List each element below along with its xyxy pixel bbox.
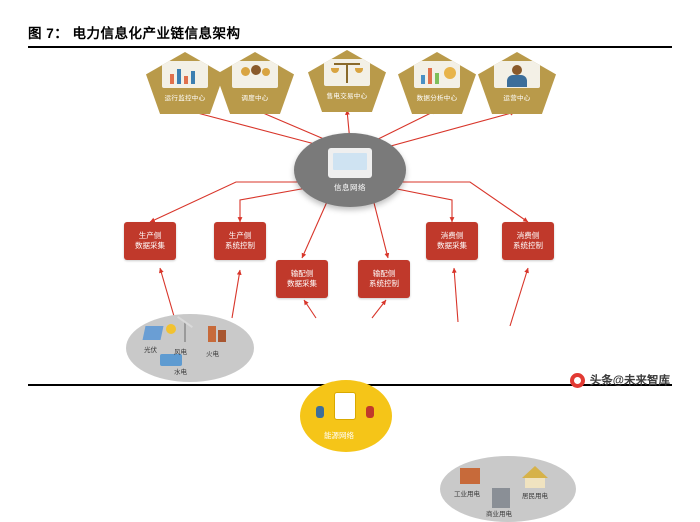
page-title: 图 7： 电力信息化产业链信息架构 (28, 22, 672, 42)
top-card-4[interactable]: 运营中心 (478, 52, 556, 114)
figure-canvas: 图 7： 电力信息化产业链信息架构 (0, 0, 700, 404)
toutiao-dot-icon (570, 373, 585, 388)
mid-box-1[interactable]: 生产侧 系统控制 (214, 222, 266, 260)
thermal-plant-icon (208, 326, 216, 342)
title-divider (28, 46, 672, 48)
mid-box-0[interactable]: 生产侧 数据采集 (124, 222, 176, 260)
mid-box-line2: 数据采集 (135, 241, 165, 251)
mid-box-5[interactable]: 消费侧 系统控制 (502, 222, 554, 260)
house-body-icon (525, 478, 545, 488)
top-card-1[interactable]: 调度中心 (216, 52, 294, 114)
top-card-2[interactable]: 售电交易中心 (308, 50, 386, 112)
bottom-group-grid[interactable]: 能源网络 (300, 380, 392, 452)
watermark: 头条@未来智库 (570, 372, 670, 388)
mid-box-line2: 系统控制 (225, 241, 255, 251)
mid-box-line2: 系统控制 (369, 279, 399, 289)
sun-icon (166, 324, 176, 334)
mid-box-3[interactable]: 输配侧 系统控制 (358, 260, 410, 298)
smart-grid-icon (334, 392, 356, 420)
bottom-item-label: 工业用电 (454, 488, 480, 498)
office-building-icon (492, 488, 510, 508)
bottom-group-consumption[interactable]: 工业用电 居民用电 商业用电 (440, 456, 576, 522)
top-card-label: 调度中心 (241, 92, 268, 102)
mid-box-line1: 生产侧 (229, 231, 252, 241)
bottom-item-label: 居民用电 (522, 490, 548, 500)
top-card-3[interactable]: 数据分析中心 (398, 52, 476, 114)
mid-box-line1: 生产侧 (139, 231, 162, 241)
monitor-chart-icon (162, 61, 208, 88)
people-icon (232, 61, 278, 88)
mid-box-line1: 输配侧 (373, 269, 396, 279)
figure-title-bar: 图 7： 电力信息化产业链信息架构 (28, 22, 672, 48)
bottom-item-label: 风电 (174, 346, 187, 356)
bottom-group-generation[interactable]: 光伏 风电 火电 水电 (126, 314, 254, 382)
bottom-item-label: 水电 (174, 366, 187, 376)
factory-icon (460, 468, 480, 484)
watermark-text: 头条@未来智库 (590, 372, 670, 388)
thermal-stack-icon (218, 330, 226, 342)
bar-chart-icon (414, 61, 460, 88)
hub-label: 信息网络 (334, 182, 366, 193)
bottom-item-label: 商业用电 (486, 508, 512, 518)
grid-person-right-icon (366, 406, 374, 418)
top-card-0[interactable]: 运行监控中心 (146, 52, 224, 114)
mid-box-line2: 数据采集 (437, 241, 467, 251)
balance-scale-icon (324, 59, 370, 86)
bottom-item-label: 能源网络 (324, 430, 354, 441)
solar-panel-icon (143, 326, 164, 340)
bottom-item-label: 火电 (206, 348, 219, 358)
top-card-label: 运行监控中心 (165, 92, 206, 102)
mid-box-2[interactable]: 输配侧 数据采集 (276, 260, 328, 298)
mid-box-line1: 输配侧 (291, 269, 314, 279)
person-icon (494, 61, 540, 88)
top-card-label: 数据分析中心 (417, 92, 458, 102)
top-card-label: 运营中心 (503, 92, 530, 102)
mid-box-line2: 数据采集 (287, 279, 317, 289)
mid-box-line1: 消费侧 (441, 231, 464, 241)
bottom-item-label: 光伏 (144, 344, 157, 354)
wind-turbine-icon (184, 322, 186, 342)
laptop-icon (328, 148, 372, 178)
mid-box-line2: 系统控制 (513, 241, 543, 251)
hub-information-network[interactable]: 信息网络 (294, 133, 406, 207)
mid-box-line1: 消费侧 (517, 231, 540, 241)
mid-box-4[interactable]: 消费侧 数据采集 (426, 222, 478, 260)
grid-person-left-icon (316, 406, 324, 418)
top-card-label: 售电交易中心 (327, 90, 368, 100)
house-icon (522, 466, 548, 478)
